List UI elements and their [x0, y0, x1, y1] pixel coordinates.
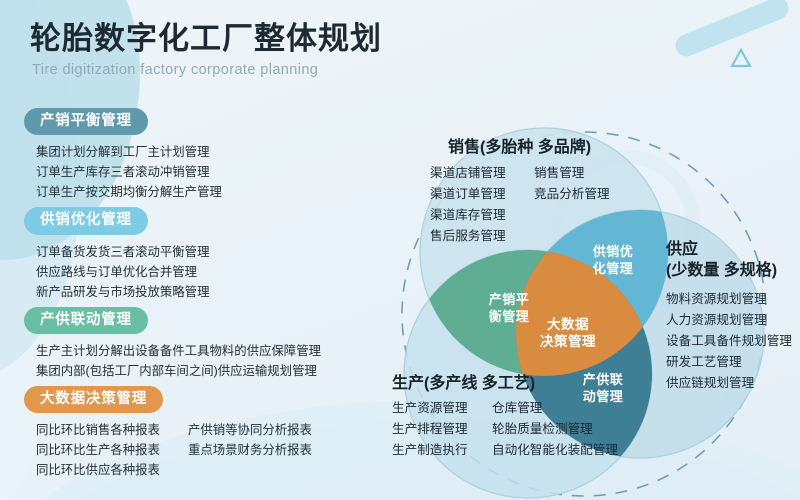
item-text-a: 同比环比销售各种报表	[36, 420, 188, 440]
section-pill-label[interactable]: 大数据决策管理	[24, 386, 163, 413]
list-item: 生产制造执行 自动化智能化装配管理	[392, 440, 618, 461]
venn-block-sales: 销售(多胎种 多品牌) 渠道店铺管理 销售管理 渠道订单管理 竞品分析管理 渠道…	[418, 138, 610, 247]
venn-block-production: 生产(多产线 多工艺) 生产资源管理 仓库管理 生产排程管理 轮胎质量检测管理 …	[392, 374, 618, 461]
item-text-b: 重点场景财务分析报表	[188, 440, 312, 460]
list-item: 供应路线与订单优化合并管理	[36, 262, 374, 282]
block-lines: 渠道店铺管理 销售管理 渠道订单管理 竞品分析管理 渠道库存管理 售后服务管理	[430, 163, 610, 248]
section-pill-label[interactable]: 产销平衡管理	[24, 108, 148, 135]
block-lines: 物料资源规划管理 人力资源规划管理 设备工具备件规划管理 研发工艺管理 供应链规…	[666, 289, 792, 395]
section-production-supply-linkage: 产供联动管理 生产主计划分解出设备备件工具物料的供应保障管理 集团内部(包括工厂…	[24, 307, 374, 381]
item-text-a: 同比环比生产各种报表	[36, 440, 188, 460]
item-text-a: 生产排程管理	[392, 419, 492, 440]
block-title: 供应 (少数量 多规格)	[666, 240, 792, 282]
list-item: 订单备货发货三者滚动平衡管理	[36, 242, 374, 262]
item-text-a: 设备工具备件规划管理	[666, 331, 792, 352]
section-items: 集团计划分解到工厂主计划管理 订单生产库存三者滚动冲销管理 订单生产按交期均衡分…	[36, 142, 374, 202]
item-text-a: 订单生产库存三者滚动冲销管理	[36, 162, 209, 182]
item-text-a: 供应路线与订单优化合并管理	[36, 262, 197, 282]
venn-label-bigdata-decision: 大数据 决策管理	[530, 316, 606, 351]
section-bigdata-decision: 大数据决策管理 同比环比销售各种报表 产供销等协同分析报表 同比环比生产各种报表…	[24, 386, 374, 480]
item-text-b: 仓库管理	[492, 398, 542, 419]
list-item: 订单生产库存三者滚动冲销管理	[36, 162, 374, 182]
item-text-a: 渠道库存管理	[430, 205, 534, 226]
item-text-a: 新产品研发与市场投放策略管理	[36, 282, 209, 302]
item-text-a: 订单生产按交期均衡分解生产管理	[36, 182, 222, 202]
section-items: 同比环比销售各种报表 产供销等协同分析报表 同比环比生产各种报表 重点场景财务分…	[36, 420, 374, 480]
venn-label-supply-sales-optimization: 供销优 化管理	[578, 244, 648, 277]
list-item: 渠道店铺管理 销售管理	[430, 163, 610, 184]
item-text-b: 自动化智能化装配管理	[492, 440, 618, 461]
left-sections: 产销平衡管理 集团计划分解到工厂主计划管理 订单生产库存三者滚动冲销管理 订单生…	[24, 108, 374, 486]
venn-diagram: 供销优 化管理 产销平 衡管理 产供联 动管理 大数据 决策管理 销售(多胎种 …	[378, 126, 800, 500]
list-item: 集团计划分解到工厂主计划管理	[36, 142, 374, 162]
list-item: 人力资源规划管理	[666, 310, 792, 331]
item-text-a: 供应链规划管理	[666, 373, 754, 394]
section-supply-sales-optimization: 供销优化管理 订单备货发货三者滚动平衡管理 供应路线与订单优化合并管理 新产品研…	[24, 207, 374, 301]
list-item: 生产资源管理 仓库管理	[392, 398, 618, 419]
list-item: 同比环比销售各种报表 产供销等协同分析报表	[36, 420, 374, 440]
list-item: 同比环比生产各种报表 重点场景财务分析报表	[36, 440, 374, 460]
block-lines: 生产资源管理 仓库管理 生产排程管理 轮胎质量检测管理 生产制造执行 自动化智能…	[392, 398, 618, 461]
page-subtitle: Tire digitization factory corporate plan…	[32, 62, 382, 78]
item-text-a: 同比环比供应各种报表	[36, 460, 188, 480]
item-text-a: 生产制造执行	[392, 440, 492, 461]
block-title: 生产(多产线 多工艺)	[392, 374, 618, 395]
item-text-a: 渠道店铺管理	[430, 163, 534, 184]
list-item: 生产排程管理 轮胎质量检测管理	[392, 419, 618, 440]
item-text-a: 渠道订单管理	[430, 184, 534, 205]
list-item: 生产主计划分解出设备备件工具物料的供应保障管理	[36, 341, 374, 361]
section-items: 生产主计划分解出设备备件工具物料的供应保障管理 集团内部(包括工厂内部车间之间)…	[36, 341, 374, 381]
list-item: 同比环比供应各种报表	[36, 460, 374, 480]
list-item: 物料资源规划管理	[666, 289, 792, 310]
section-pill-label[interactable]: 供销优化管理	[24, 207, 148, 234]
item-text-b: 竞品分析管理	[534, 184, 610, 205]
item-text-a: 集团计划分解到工厂主计划管理	[36, 142, 209, 162]
page-title: 轮胎数字化工厂整体规划	[30, 22, 382, 57]
list-item: 新产品研发与市场投放策略管理	[36, 282, 374, 302]
item-text-a: 研发工艺管理	[666, 352, 742, 373]
item-text-a: 订单备货发货三者滚动平衡管理	[36, 242, 209, 262]
list-item: 研发工艺管理	[666, 352, 792, 373]
section-production-sales-balance: 产销平衡管理 集团计划分解到工厂主计划管理 订单生产库存三者滚动冲销管理 订单生…	[24, 108, 374, 202]
item-text-a: 生产资源管理	[392, 398, 492, 419]
venn-block-supply: 供应 (少数量 多规格) 物料资源规划管理 人力资源规划管理 设备工具备件规划管…	[666, 240, 792, 394]
item-text-a: 人力资源规划管理	[666, 310, 767, 331]
item-text-a: 集团内部(包括工厂内部车间之间)供应运输规划管理	[36, 361, 317, 381]
list-item: 渠道订单管理 竞品分析管理	[430, 184, 610, 205]
list-item: 供应链规划管理	[666, 373, 792, 394]
list-item: 售后服务管理	[430, 226, 610, 247]
item-text-b: 轮胎质量检测管理	[492, 419, 593, 440]
list-item: 订单生产按交期均衡分解生产管理	[36, 182, 374, 202]
item-text-a: 售后服务管理	[430, 226, 534, 247]
section-items: 订单备货发货三者滚动平衡管理 供应路线与订单优化合并管理 新产品研发与市场投放策…	[36, 242, 374, 302]
item-text-b: 产供销等协同分析报表	[188, 420, 312, 440]
item-text-a: 生产主计划分解出设备备件工具物料的供应保障管理	[36, 341, 321, 361]
block-title: 销售(多胎种 多品牌)	[448, 138, 610, 159]
slide-canvas: 轮胎数字化工厂整体规划 Tire digitization factory co…	[0, 0, 800, 500]
header: 轮胎数字化工厂整体规划 Tire digitization factory co…	[30, 22, 382, 78]
list-item: 渠道库存管理	[430, 205, 610, 226]
list-item: 集团内部(包括工厂内部车间之间)供应运输规划管理	[36, 361, 374, 381]
section-pill-label[interactable]: 产供联动管理	[24, 307, 148, 334]
item-text-a: 物料资源规划管理	[666, 289, 767, 310]
item-text-b: 销售管理	[534, 163, 584, 184]
list-item: 设备工具备件规划管理	[666, 331, 792, 352]
